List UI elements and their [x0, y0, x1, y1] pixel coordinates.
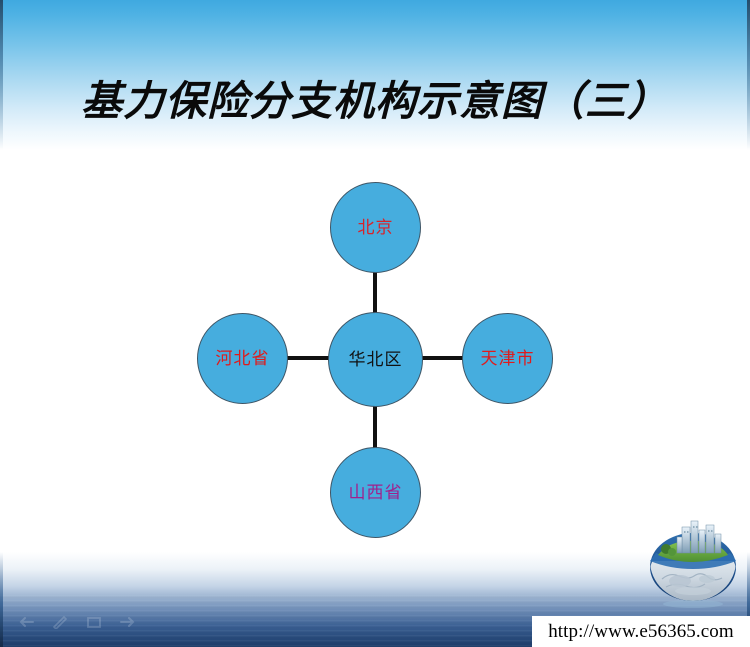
node-beijing[interactable]: 北京 — [330, 182, 421, 273]
connector-center-to-top — [373, 270, 377, 314]
node-hebei-label: 河北省 — [216, 350, 270, 367]
node-huabei-center-label: 华北区 — [349, 351, 403, 368]
presentation-slide: 基力保险分支机构示意图（三） 北京 河北省 华北区 天津市 山西省 — [0, 0, 750, 647]
url-plate: http://www.e56365.com — [532, 616, 750, 647]
connector-center-to-bottom — [373, 404, 377, 448]
node-shanxi[interactable]: 山西省 — [330, 447, 421, 538]
earth-city-globe-logo — [644, 519, 742, 611]
node-tianjin[interactable]: 天津市 — [462, 313, 553, 404]
connector-center-to-left — [286, 356, 330, 360]
node-shanxi-label: 山西省 — [349, 484, 403, 501]
org-chart-diagram: 北京 河北省 华北区 天津市 山西省 — [0, 0, 750, 647]
connector-center-to-right — [420, 356, 464, 360]
node-huabei-center[interactable]: 华北区 — [328, 312, 423, 407]
website-url[interactable]: http://www.e56365.com — [548, 621, 734, 643]
node-hebei[interactable]: 河北省 — [197, 313, 288, 404]
node-tianjin-label: 天津市 — [481, 350, 535, 367]
node-beijing-label: 北京 — [358, 219, 394, 236]
